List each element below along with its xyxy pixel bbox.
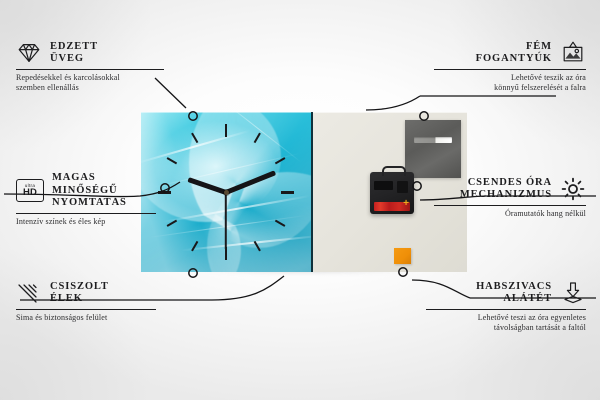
callout-high-quality-print: ultra HD MAGAS MINŐSÉGŰ NYOMTATÁS Intenz… — [16, 172, 156, 227]
callout-title-line2: MECHANIZMUS — [460, 189, 552, 202]
hour-hand — [187, 177, 226, 195]
foam-pad-icon — [560, 280, 586, 306]
second-hand — [225, 192, 227, 250]
clock-mechanism-box — [370, 172, 414, 214]
tick-1 — [254, 133, 261, 144]
tick-4 — [275, 220, 286, 227]
callout-divider — [16, 69, 164, 70]
metal-hanger-plate — [405, 120, 461, 178]
tick-2 — [275, 157, 286, 164]
callout-title-line2: ÜVEG — [50, 53, 98, 66]
callout-polished-edges: CSISZOLT ÉLEK Sima és biztonságos felüle… — [16, 280, 156, 323]
callout-title: CSISZOLT — [50, 281, 109, 294]
callout-divider — [434, 69, 586, 70]
callout-desc: Sima és biztonságos felület — [16, 313, 156, 323]
ultra-hd-icon: ultra HD — [16, 179, 44, 202]
callout-metal-handles: FÉM FOGANTYÚK Lehetővé teszik az óra kön… — [434, 40, 586, 93]
callout-foam-pad: HABSZIVACS ALÁTÉT Lehetővé teszi az óra … — [426, 280, 586, 333]
callout-polished-edges-title-block: CSISZOLT ÉLEK — [50, 281, 109, 306]
foam-spacer-pad — [394, 248, 411, 264]
tick-5 — [254, 241, 261, 252]
callout-desc: Intenzív színek és éles kép — [16, 217, 156, 227]
mechanism-slot-right — [397, 181, 408, 193]
battery — [374, 202, 410, 211]
tick-11 — [191, 133, 198, 144]
minute-hand — [225, 170, 276, 194]
callout-desc-line2: könnyű felszerelését a falra — [434, 83, 586, 93]
callout-tempered-glass-head: EDZETT ÜVEG — [16, 40, 164, 66]
callout-desc: Óramutatók hang nélkül — [434, 209, 586, 219]
polished-edge-icon — [16, 280, 42, 306]
callout-divider — [434, 205, 586, 206]
callout-tempered-glass: EDZETT ÜVEG Repedésekkel és karcolásokka… — [16, 40, 164, 93]
callout-title-line2: ALÁTÉT — [476, 293, 552, 306]
callout-desc-line2: szemben ellenállás — [16, 83, 164, 93]
callout-title: EDZETT — [50, 41, 98, 54]
callout-divider — [426, 309, 586, 310]
callout-silent-mechanism-title-block: CSENDES ÓRA MECHANIZMUS — [460, 177, 552, 202]
gear-icon — [560, 176, 586, 202]
callout-title-line2: ÉLEK — [50, 293, 109, 306]
callout-polished-edges-head: CSISZOLT ÉLEK — [16, 280, 156, 306]
clock-center-cap — [224, 190, 229, 195]
callout-desc: Repedésekkel és karcolásokkal — [16, 73, 164, 83]
callout-divider — [16, 213, 156, 214]
clock-front-panel — [141, 112, 315, 272]
callout-title: CSENDES ÓRA — [460, 177, 552, 190]
tick-3 — [281, 191, 294, 194]
callout-silent-mechanism-head: CSENDES ÓRA MECHANIZMUS — [434, 176, 586, 202]
callout-high-quality-print-title-block: MAGAS MINŐSÉGŰ NYOMTATÁS — [52, 172, 156, 210]
callout-title-line2: FOGANTYÚK — [476, 53, 552, 66]
callout-high-quality-print-head: ultra HD MAGAS MINŐSÉGŰ NYOMTATÁS — [16, 172, 156, 210]
callout-title: MAGAS MINŐSÉGŰ — [52, 172, 156, 197]
callout-metal-handles-head: FÉM FOGANTYÚK — [434, 40, 586, 66]
callout-tempered-glass-title-block: EDZETT ÜVEG — [50, 41, 98, 66]
tick-9 — [158, 191, 171, 194]
diamond-icon — [16, 40, 42, 66]
callout-silent-mechanism: CSENDES ÓRA MECHANIZMUS Óramutatók hang … — [434, 176, 586, 219]
tick-8 — [167, 220, 178, 227]
callout-metal-handles-title-block: FÉM FOGANTYÚK — [476, 41, 552, 66]
clock-dial — [141, 112, 311, 272]
callout-title: FÉM — [476, 41, 552, 54]
tick-10 — [167, 157, 178, 164]
infographic-canvas: EDZETT ÜVEG Repedésekkel és karcolásokka… — [0, 0, 600, 400]
callout-title: HABSZIVACS — [476, 281, 552, 294]
mechanism-handle — [382, 166, 406, 176]
ultra-hd-icon-bottom: HD — [23, 188, 37, 198]
callout-foam-pad-title-block: HABSZIVACS ALÁTÉT — [476, 281, 552, 306]
callout-divider — [16, 309, 156, 310]
callout-desc-line2: távolságban tartását a faltól — [426, 323, 586, 333]
callout-desc: Lehetővé teszi az óra egyenletes — [426, 313, 586, 323]
hanging-picture-icon — [560, 40, 586, 66]
tick-7 — [191, 241, 198, 252]
callout-foam-pad-head: HABSZIVACS ALÁTÉT — [426, 280, 586, 306]
mechanism-slot-left — [374, 181, 393, 190]
tick-12 — [225, 124, 227, 137]
callout-desc: Lehetővé teszik az óra — [434, 73, 586, 83]
callout-title-line2: NYOMTATÁS — [52, 197, 156, 210]
